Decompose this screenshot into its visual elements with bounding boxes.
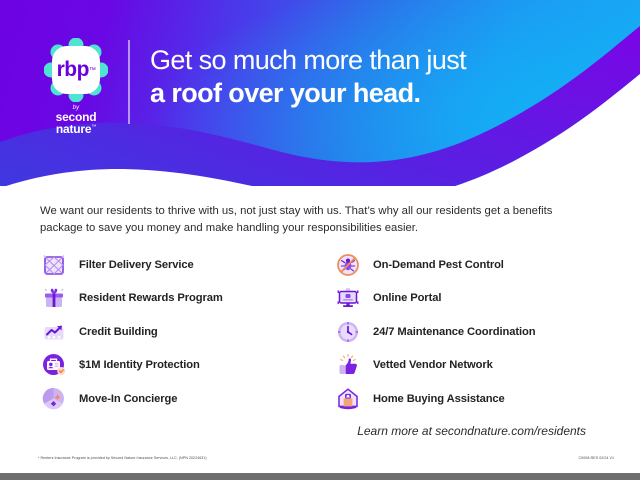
gift-box-icon — [40, 284, 68, 312]
benefit-label: Move-In Concierge — [79, 393, 177, 405]
logo-brand-trademark: ™ — [91, 124, 96, 130]
header-banner: rbp™ by second nature™ Get so much more … — [0, 0, 640, 186]
benefits-column-left: Filter Delivery Service Resident Rewards… — [40, 248, 320, 416]
benefit-item-pest-control: On-Demand Pest Control — [334, 248, 614, 282]
benefit-item-home-buying-assistance: Home Buying Assistance — [334, 382, 614, 416]
bottom-bar — [0, 473, 640, 480]
benefit-item-vetted-vendor-network: Vetted Vendor Network — [334, 349, 614, 383]
benefit-label: Vetted Vendor Network — [373, 359, 493, 371]
concierge-sphere-icon — [40, 385, 68, 413]
intro-paragraph: We want our residents to thrive with us,… — [40, 203, 592, 237]
benefit-label: Online Portal — [373, 292, 441, 304]
benefit-label: $1M Identity Protection — [79, 359, 200, 371]
no-pest-icon — [334, 251, 362, 279]
benefit-item-credit-building: Credit Building — [40, 315, 320, 349]
benefit-label: Home Buying Assistance — [373, 393, 505, 405]
headline-line-2: a roof over your head. — [150, 77, 620, 110]
benefit-item-move-in-concierge: Move-In Concierge — [40, 382, 320, 416]
benefit-item-online-portal: Online Portal — [334, 282, 614, 316]
credit-chart-icon — [40, 318, 68, 346]
headline: Get so much more than just a roof over y… — [150, 44, 620, 110]
benefit-item-resident-rewards-program: Resident Rewards Program — [40, 282, 320, 316]
second-nature-lockup: by second nature™ — [38, 105, 114, 136]
rbp-badge-label: rbp™ — [44, 38, 108, 102]
desktop-monitor-icon — [334, 284, 362, 312]
benefit-item-filter-delivery-service: Filter Delivery Service — [40, 248, 320, 282]
benefit-label: 24/7 Maintenance Coordination — [373, 326, 535, 338]
logo-divider — [128, 40, 130, 124]
house-icon — [334, 385, 362, 413]
air-filter-icon — [40, 251, 68, 279]
document-code: C0008-RES 02/24 V1 — [579, 456, 614, 460]
rbp-logo: rbp™ by second nature™ — [38, 38, 114, 126]
rbp-badge-icon: rbp™ — [44, 38, 108, 102]
clock-icon — [334, 318, 362, 346]
benefit-label: Credit Building — [79, 326, 158, 338]
legal-disclaimer: * Renters Insurance Program is provided … — [38, 456, 207, 460]
benefits-column-right: On-Demand Pest Control Online Portal — [334, 248, 614, 416]
benefit-item-maintenance-coordination: 24/7 Maintenance Coordination — [334, 315, 614, 349]
benefit-label: On-Demand Pest Control — [373, 259, 504, 271]
rbp-wordmark: rbp — [57, 58, 89, 82]
benefit-label: Filter Delivery Service — [79, 259, 194, 271]
rbp-trademark: ™ — [89, 67, 96, 74]
id-shield-badge-icon — [40, 351, 68, 379]
learn-more-link[interactable]: Learn more at secondnature.com/residents — [40, 424, 600, 438]
thumbs-up-icon — [334, 351, 362, 379]
benefit-item-identity-protection: $1M Identity Protection — [40, 349, 320, 383]
benefit-label: Resident Rewards Program — [79, 292, 223, 304]
headline-line-1: Get so much more than just — [150, 44, 620, 77]
logo-brand-name: second nature™ — [38, 111, 114, 135]
